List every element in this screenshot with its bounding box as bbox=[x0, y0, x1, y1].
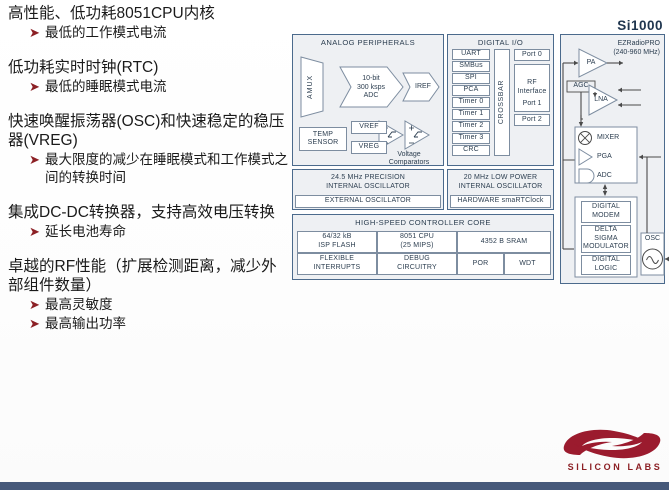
silicon-labs-logo: SILICON LABS bbox=[558, 424, 666, 480]
slide-root: 高性能、低功耗8051CPU内核 ➤ 最低的工作模式电流 低功耗实时时钟(RTC… bbox=[0, 0, 669, 490]
bottom-accent-bar bbox=[0, 482, 669, 490]
debug-line2: CIRCUITRY bbox=[397, 264, 437, 273]
amux-label: AMUX bbox=[305, 63, 317, 111]
osc-label: OSC bbox=[641, 235, 664, 243]
temp-sensor-box: TEMP SENSOR bbox=[299, 127, 347, 151]
peripheral-spi: SPI bbox=[452, 73, 490, 84]
arrow-bullet-icon: ➤ bbox=[29, 151, 40, 169]
digital-io-title: DIGITAL I/O bbox=[448, 38, 553, 47]
peripheral-timer1: Timer 1 bbox=[452, 109, 490, 120]
digital-modem-cell: DIGITAL MODEM bbox=[581, 201, 631, 223]
rf-interface-label-line1: RF bbox=[527, 79, 537, 88]
bullet-group-1: 高性能、低功耗8051CPU内核 ➤ 最低的工作模式电流 bbox=[4, 4, 288, 42]
bullet-heading: 快速唤醒振荡器(OSC)和快速稳定的稳压器(VREG) bbox=[8, 112, 288, 150]
isp-flash-line2: ISP FLASH bbox=[318, 242, 355, 251]
vref-box: VREF bbox=[351, 121, 387, 134]
lna-label: LNA bbox=[590, 96, 612, 104]
controller-core-panel: HIGH-SPEED CONTROLLER CORE 64/32 kB ISP … bbox=[292, 214, 554, 280]
precision-osc-line2: INTERNAL OSCILLATOR bbox=[326, 183, 410, 192]
port2-block: Port 2 bbox=[514, 114, 550, 126]
arrow-bullet-icon: ➤ bbox=[29, 24, 40, 42]
chip-name-label: Si1000 bbox=[617, 18, 663, 33]
peripheral-crc: CRC bbox=[452, 145, 490, 156]
lowpower-osc-cell: 20 MHz LOW POWER INTERNAL OSCILLATOR bbox=[450, 172, 551, 194]
bullet-group-3: 快速唤醒振荡器(OSC)和快速稳定的稳压器(VREG) ➤ 最大限度的减少在睡眠… bbox=[4, 112, 288, 187]
temp-sensor-label-line2: SENSOR bbox=[308, 139, 339, 147]
cpu-line2: (25 MIPS) bbox=[400, 242, 433, 251]
digital-modem-line2: MODEM bbox=[592, 212, 620, 221]
bullet-heading: 高性能、低功耗8051CPU内核 bbox=[8, 4, 288, 23]
digital-io-panel: DIGITAL I/O UART SMBus SPI PCA Timer 0 T… bbox=[447, 34, 554, 166]
debug-line1: DEBUG bbox=[404, 255, 430, 264]
silicon-labs-wordmark: SILICON LABS bbox=[564, 462, 666, 472]
peripheral-uart: UART bbox=[452, 49, 490, 60]
bullet-sub-label: 最高输出功率 bbox=[45, 316, 126, 331]
bullet-heading: 低功耗实时时钟(RTC) bbox=[8, 58, 288, 77]
adc-label-line3: ADC bbox=[349, 92, 393, 100]
analog-peripherals-panel: ANALOG PERIPHERALS AMUX 10-bit bbox=[292, 34, 444, 166]
interrupts-line1: FLEXIBLE bbox=[320, 255, 354, 264]
bullet-sub: ➤ 最低的睡眠模式电流 bbox=[30, 78, 288, 96]
bullet-sub-label: 最大限度的减少在睡眠模式和工作模式之间的转换时间 bbox=[45, 152, 288, 185]
voltage-comparators-label-line2: Comparators bbox=[379, 159, 439, 167]
arrow-bullet-icon: ➤ bbox=[29, 78, 40, 96]
pa-label: PA bbox=[581, 59, 601, 67]
isp-flash-line1: 64/32 kB bbox=[322, 233, 351, 242]
delta-sigma-line3: MODULATOR bbox=[583, 243, 629, 252]
external-osc-cell: EXTERNAL OSCILLATOR bbox=[295, 195, 441, 208]
bullet-sub: ➤ 最高灵敏度 bbox=[30, 296, 288, 314]
rf-interface-label-line2: Interface bbox=[517, 88, 546, 97]
lowpower-oscillator-band: 20 MHz LOW POWER INTERNAL OSCILLATOR HAR… bbox=[447, 169, 554, 210]
adc-label: ADC bbox=[597, 172, 633, 180]
bullet-sub: ➤ 最低的工作模式电流 bbox=[30, 24, 288, 42]
peripheral-pca: PCA bbox=[452, 85, 490, 96]
temp-sensor-label-line1: TEMP bbox=[313, 131, 333, 139]
bullet-sub: ➤ 最高输出功率 bbox=[30, 315, 288, 333]
controller-core-title: HIGH-SPEED CONTROLLER CORE bbox=[293, 218, 553, 227]
port1-label: Port 1 bbox=[514, 100, 550, 108]
interrupts-line2: INTERRUPTS bbox=[314, 264, 361, 273]
por-cell: POR bbox=[457, 253, 504, 275]
iref-label: IREF bbox=[409, 83, 437, 91]
digital-logic-line2: LOGIC bbox=[595, 265, 618, 274]
bullet-sub-label: 最低的睡眠模式电流 bbox=[45, 79, 167, 94]
port0-block: Port 0 bbox=[514, 49, 550, 61]
precision-osc-line1: 24.5 MHz PRECISION bbox=[331, 174, 405, 183]
cpu-cell: 8051 CPU (25 MIPS) bbox=[377, 231, 457, 253]
bullet-sub: ➤ 最大限度的减少在睡眠模式和工作模式之间的转换时间 bbox=[30, 151, 288, 187]
mcu-section: ANALOG PERIPHERALS AMUX 10-bit bbox=[292, 34, 554, 284]
peripheral-smbus: SMBus bbox=[452, 61, 490, 72]
cpu-line1: 8051 CPU bbox=[400, 233, 434, 242]
pga-label: PGA bbox=[597, 153, 633, 161]
arrow-bullet-icon: ➤ bbox=[29, 223, 40, 241]
peripheral-timer2: Timer 2 bbox=[452, 121, 490, 132]
digital-logic-line1: DIGITAL bbox=[592, 256, 620, 265]
lowpower-osc-line2: INTERNAL OSCILLATOR bbox=[459, 183, 543, 192]
wdt-cell: WDT bbox=[504, 253, 551, 275]
bullet-sub-label: 最低的工作模式电流 bbox=[45, 25, 167, 40]
digital-logic-cell: DIGITAL LOGIC bbox=[581, 255, 631, 275]
peripheral-timer0: Timer 0 bbox=[452, 97, 490, 108]
mixer-label: MIXER bbox=[597, 134, 633, 142]
silicon-labs-mark-icon bbox=[558, 424, 666, 464]
agc-label: AGC bbox=[567, 82, 595, 90]
debug-cell: DEBUG CIRCUITRY bbox=[377, 253, 457, 275]
adc-label-line1: 10-bit bbox=[349, 75, 393, 83]
isp-flash-cell: 64/32 kB ISP FLASH bbox=[297, 231, 377, 253]
interrupts-cell: FLEXIBLE INTERRUPTS bbox=[297, 253, 377, 275]
bullet-heading: 卓越的RF性能（扩展检测距离，减少外部组件数量） bbox=[8, 257, 288, 295]
bullet-heading: 集成DC-DC转换器，支持高效电压转换 bbox=[8, 203, 288, 222]
bullet-group-2: 低功耗实时时钟(RTC) ➤ 最低的睡眠模式电流 bbox=[4, 58, 288, 96]
bullet-list: 高性能、低功耗8051CPU内核 ➤ 最低的工作模式电流 低功耗实时时钟(RTC… bbox=[4, 4, 288, 474]
sram-cell: 4352 B SRAM bbox=[457, 231, 551, 253]
arrow-bullet-icon: ➤ bbox=[29, 296, 40, 314]
smartclock-cell: HARDWARE smaRTClock bbox=[450, 195, 551, 208]
crossbar-block: CROSSBAR bbox=[494, 49, 510, 156]
delta-sigma-modulator-cell: DELTA SIGMA MODULATOR bbox=[581, 225, 631, 253]
arrow-bullet-icon: ➤ bbox=[29, 315, 40, 333]
peripheral-timer3: Timer 3 bbox=[452, 133, 490, 144]
oscillator-band: 24.5 MHz PRECISION INTERNAL OSCILLATOR E… bbox=[292, 169, 444, 210]
precision-osc-cell: 24.5 MHz PRECISION INTERNAL OSCILLATOR bbox=[295, 172, 441, 194]
digital-modem-line1: DIGITAL bbox=[592, 203, 620, 212]
bullet-sub-label: 延长电池寿命 bbox=[45, 224, 126, 239]
bullet-sub: ➤ 延长电池寿命 bbox=[30, 223, 288, 241]
block-diagram: Si1000 ANALOG PERIPHERALS bbox=[292, 18, 665, 286]
adc-label-line2: 300 ksps bbox=[349, 84, 393, 92]
bullet-sub-label: 最高灵敏度 bbox=[45, 297, 113, 312]
delta-sigma-line1: DELTA bbox=[595, 226, 618, 235]
lowpower-osc-line1: 20 MHz LOW POWER bbox=[464, 174, 538, 183]
bullet-group-4: 集成DC-DC转换器，支持高效电压转换 ➤ 延长电池寿命 bbox=[4, 203, 288, 241]
ezradiopro-panel: EZRadioPRO (240-960 MHz) bbox=[560, 34, 665, 284]
delta-sigma-line2: SIGMA bbox=[594, 235, 618, 244]
crossbar-label: CROSSBAR bbox=[498, 80, 507, 124]
bullet-group-5: 卓越的RF性能（扩展检测距离，减少外部组件数量） ➤ 最高灵敏度 ➤ 最高输出功… bbox=[4, 257, 288, 333]
